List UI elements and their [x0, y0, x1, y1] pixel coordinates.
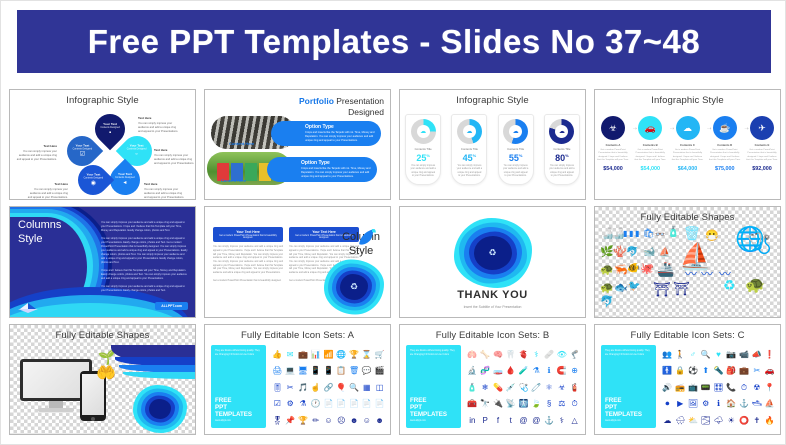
card-line3: TEMPLATES: [605, 411, 642, 418]
waves-icon: 〰: [701, 265, 713, 282]
icon-cell: 🩹: [544, 351, 554, 359]
column-1-foot: Get a modern PowerPoint Presentation tha…: [213, 280, 283, 284]
option-type-label-1: Option Type: [305, 124, 375, 130]
icon-set-card-c: They are Resize without losing quality. …: [601, 345, 656, 428]
icon-cell: 📡: [506, 400, 516, 408]
icon-cell: ☁: [663, 417, 671, 425]
icon-cell: 🧷: [531, 384, 541, 392]
donut-value-4: 80%: [547, 153, 577, 163]
icon-cell: 🏠: [726, 400, 736, 408]
icon-cell: 🌫: [701, 417, 711, 425]
icon-cell: 📄: [336, 400, 346, 408]
donut-value-1: 25%: [408, 153, 438, 163]
card-url: www.allppt.com: [410, 420, 457, 423]
card-line1: FREE: [215, 397, 232, 404]
mobile-icon: ▪: [109, 129, 111, 135]
donut-text-3: You can simply impress your audience and…: [501, 165, 531, 179]
icon-cell: 🌧: [675, 417, 685, 425]
icon-cell: ▦: [363, 384, 371, 392]
icon-cell: ⊕: [571, 367, 578, 375]
petal-diagram: Your Text Contents Designed ▪ Your Text …: [10, 112, 195, 195]
portfolio-pill-1: Option Type Crops and insects like the T…: [271, 121, 381, 146]
icon-cell: 🌐: [336, 351, 346, 359]
ship-icon: 🚢: [657, 261, 674, 278]
circle-item-2: 🚗 Contents B Get a modern PowerPoint Pre…: [634, 116, 666, 172]
icon-cell: 📋: [336, 367, 346, 375]
circle-text-5: Get a modern PowerPoint Presentation tha…: [746, 149, 778, 163]
icon-cell: 🧲: [557, 367, 567, 375]
icon-cell: 🖥: [298, 367, 308, 375]
circle-price-row: ☣ Contents A Get a modern PowerPoint Pre…: [597, 116, 778, 172]
portfolio-highlight: Portfolio: [299, 96, 334, 106]
slide-11-title: Fully Editable Icon Sets: B: [400, 330, 585, 341]
circle-caption-4: Contents D: [709, 143, 741, 147]
icon-cell: ♂: [690, 351, 696, 359]
icon-cell: 🫁: [467, 351, 477, 359]
icon-cell: f: [497, 417, 499, 425]
donut-caption-1: Contents Title: [408, 147, 438, 151]
content-here-label-1: Content Here: [229, 141, 254, 146]
page-title: Free PPT Templates - Slides No 37~48: [88, 23, 701, 61]
paragraph-2: You can simply impress your audience and…: [101, 237, 189, 265]
icon-cell: 🔌: [493, 400, 503, 408]
icon-cell: 🔦: [714, 367, 724, 375]
circle-text-2: Get a modern PowerPoint Presentation tha…: [634, 149, 666, 163]
fish-icon: 🐠: [627, 263, 639, 274]
icon-cell: ⛅: [688, 417, 698, 425]
circle-item-1: ☣ Contents A Get a modern PowerPoint Pre…: [597, 116, 629, 172]
circle-caption-1: Contents A: [597, 143, 629, 147]
icon-cell: 📄: [324, 400, 334, 408]
car-icon: 🚗: [638, 116, 662, 140]
stethoscope-icon: 🩺: [747, 231, 772, 256]
slide-9-title: Fully Editable Shapes: [10, 330, 195, 341]
icon-cell: ✂: [287, 384, 294, 392]
icon-cell: 🔬: [467, 367, 477, 375]
icon-cell: 📷: [726, 351, 736, 359]
donut-chart-1: ☁: [411, 119, 436, 144]
icon-cell: 📺: [688, 384, 698, 392]
text-column-1: Your Text Here Get a modern PowerPoint P…: [213, 227, 283, 283]
card-bottom-text: FREE PPT TEMPLATES www.allppt.com: [215, 398, 262, 423]
icon-cell: 💼: [298, 351, 308, 359]
icon-cell: 📊: [311, 351, 321, 359]
petal-note-2: Text Here You can simply impress your au…: [154, 148, 196, 166]
slide-thumbnail-8[interactable]: Fully Editable Shapes 🍶 🍶 ▮ ▮ ▮ 🛍 👓 🧴 🗑 …: [594, 206, 781, 317]
coral-icon: 🪸: [613, 245, 627, 258]
icon-cell: 🔒: [675, 367, 685, 375]
icon-cell: §: [547, 400, 551, 408]
icon-cell: ⏺: [665, 400, 669, 408]
icon-cell: 🫀: [519, 351, 529, 359]
icon-cell: ℹ: [548, 367, 551, 375]
icon-cell: 💉: [506, 384, 516, 392]
icon-cell: 🗑: [349, 367, 359, 375]
papercut-star-7: ♻: [454, 218, 532, 288]
icon-cell: ☢: [753, 384, 760, 392]
slide-2-title: Portfolio Presentation Designed: [299, 96, 384, 117]
cloud-icon: ☁: [411, 119, 436, 144]
icon-set-card-b: They are Resize without losing quality. …: [406, 345, 461, 428]
spray-bottle-icon: 🧴: [667, 227, 679, 238]
donut-value-3: 55%: [501, 153, 531, 163]
cart-icon: ▫: [136, 151, 138, 157]
card-top-text: They are Resize without losing quality. …: [605, 350, 652, 358]
cup-icon: ☕: [713, 116, 737, 140]
slide-thumbnail-7[interactable]: ♻ THANK YOU Insert the Subtitle of Your …: [399, 206, 586, 317]
slide-thumbnail-12[interactable]: Fully Editable Icon Sets: C They are Res…: [594, 324, 781, 435]
circle-item-3: ☁ Contents C Get a modern PowerPoint Pre…: [672, 116, 704, 172]
icon-cell: ⭕: [739, 417, 749, 425]
donut-card-4: ☁ Contents Title 80% You can simply impr…: [544, 114, 580, 185]
icon-cell: ⏱: [571, 400, 577, 408]
slide-8-title: Fully Editable Shapes: [595, 212, 780, 223]
circle-price-5: $92,000: [746, 166, 778, 172]
icon-cell: ❄: [482, 384, 489, 392]
donut-chart-4: ☁: [549, 119, 574, 144]
icon-cell: 🦴: [480, 351, 490, 359]
dolphin-icon: [356, 227, 378, 252]
cloud-icon: ☁: [549, 119, 574, 144]
content-here-label-2: Content Here: [221, 178, 246, 183]
card-top-text: They are Resize without losing quality. …: [410, 350, 457, 358]
icon-cell: 🏆: [349, 351, 359, 359]
icon-cell: ⚽: [688, 367, 698, 375]
portfolio-pill-2: Option Type Crops and insects like the T…: [267, 157, 377, 182]
biohazard-icon: ☣: [601, 116, 625, 140]
icon-cell: 📶: [324, 351, 334, 359]
icon-cell: ☺: [363, 417, 371, 425]
icon-cell: 📱: [311, 367, 321, 375]
icon-cell: t: [510, 417, 512, 425]
icon-grid-b: 🫁🦴🧠🦷🫀⚕🩹👁🦿 🔬🧬🧫🩸🧪⚗ℹ🧲⊕ 🧴❄💊💉🩺🧷⚛☣🧯 🧰🔭🔌📡🩻🍃§⚖⏱ …: [466, 347, 581, 429]
icon-cell: 🚶: [675, 351, 685, 359]
circle-caption-2: Contents B: [634, 143, 666, 147]
icon-cell: 🧠: [493, 351, 503, 359]
seaweed-icon: 🌿: [600, 245, 614, 258]
icon-cell: 🎬: [375, 367, 385, 375]
cloud-icon: ☁: [676, 116, 700, 140]
icon-cell: 💊: [493, 384, 503, 392]
card-bottom-text: FREE PPT TEMPLATES www.allppt.com: [605, 398, 652, 423]
icon-cell: 👁: [557, 351, 567, 359]
icon-cell: ▶: [677, 400, 683, 408]
petal-note-5: Text Here You can simply impress your au…: [15, 144, 57, 162]
bird-icon: 🐦: [628, 281, 640, 292]
icon-cell: 🎈: [336, 384, 346, 392]
donut-caption-4: Contents Title: [547, 147, 577, 151]
waves-icon: 〰: [685, 265, 697, 282]
donut-card-1: ☁ Contents Title 25% You can simply impr…: [405, 114, 441, 185]
papercut-blob-6: ♻: [324, 260, 384, 315]
slide-thumbnail-10[interactable]: Fully Editable Icon Sets: A They are Res…: [204, 324, 391, 435]
donut-card-3: ☁ Contents Title 55% You can simply impr…: [498, 114, 534, 185]
card-line3: TEMPLATES: [410, 411, 447, 418]
icon-cell: 🧯: [570, 384, 580, 392]
icon-cell: 📹: [739, 351, 749, 359]
icon-cell: P: [482, 417, 487, 425]
straw-icon: ▮: [629, 229, 633, 238]
page-root: Free PPT Templates - Slides No 37~48 Inf…: [0, 0, 786, 445]
card-line2: PPT: [410, 404, 422, 411]
icon-cell: ⚗: [533, 367, 540, 375]
option-type-text-1: Crops and insects like the Tarpetic will…: [305, 131, 375, 142]
card-line1: FREE: [410, 397, 427, 404]
whale-icon: 🐋: [643, 247, 655, 258]
circle-price-4: $75,000: [709, 166, 741, 172]
portfolio-row-2: Option Type Crops and insects like the T…: [207, 152, 387, 185]
icon-cell: 🎵: [298, 384, 308, 392]
icon-cell: ⚗: [299, 400, 306, 408]
icon-cell: 🌩: [713, 417, 723, 425]
papercut-blob-9: [133, 385, 187, 433]
icon-cell: ☝: [311, 384, 321, 392]
recycle-bin-icon: ♻: [723, 277, 736, 294]
icon-cell: ☹: [337, 417, 345, 425]
card-bottom-text: FREE PPT TEMPLATES www.allppt.com: [410, 398, 457, 423]
slide-thumbnail-4[interactable]: Infographic Style ☣ Contents A Get a mod…: [594, 89, 781, 200]
turtle-icon: 🐢: [745, 275, 765, 295]
circle-text-1: Get a modern PowerPoint Presentation tha…: [597, 149, 629, 163]
icon-cell: ✝: [753, 417, 760, 425]
icon-cell: 🩸: [506, 367, 516, 375]
slide-thumbnail-5[interactable]: Columns Style You can simply impress you…: [9, 206, 196, 317]
header-banner: Free PPT Templates - Slides No 37~48: [17, 10, 771, 73]
icon-cell: ☻: [375, 417, 383, 425]
straw-icon: ▮: [635, 229, 639, 238]
icon-cell: 👥: [662, 351, 672, 359]
column-1-header: Your Text Here Get a modern PowerPoint P…: [213, 227, 283, 242]
fence-icon: ⛩: [653, 281, 671, 298]
boat-icon: ⛵: [659, 247, 670, 258]
cloud-icon: ☁: [457, 119, 482, 144]
dolphin-icon: 🐬: [600, 295, 614, 308]
donut-card-row: ☁ Contents Title 25% You can simply impr…: [400, 114, 585, 185]
circle-item-4: ☕ Contents D Get a modern PowerPoint Pre…: [709, 116, 741, 172]
paragraph-3: I hope and I believe that this Template …: [101, 269, 189, 281]
petal-note-1: Text Here You can simply impress your au…: [138, 116, 180, 134]
icon-cell: @: [532, 417, 540, 425]
slide-thumbnail-6[interactable]: Your Text Here Get a modern PowerPoint P…: [204, 206, 391, 317]
icon-cell: ⚖: [558, 400, 565, 408]
icon-cell: 🖼: [688, 400, 698, 408]
circle-price-2: $54,000: [634, 166, 666, 172]
portfolio-row-1: Option Type Crops and insects like the T…: [211, 116, 391, 149]
recycle-icon: ♻: [350, 282, 358, 293]
petal-note-3: Text Here You can simply impress your au…: [144, 182, 186, 200]
thank-you-title: THANK YOU: [400, 289, 585, 301]
card-url: www.allppt.com: [215, 420, 262, 423]
bag-icon: 🛍: [643, 228, 654, 239]
icon-cell: ⚓: [544, 417, 554, 425]
icon-cell: 🔥: [765, 417, 775, 425]
icon-cell: ✂: [753, 367, 760, 375]
icon-cell: 🔍: [349, 384, 359, 392]
icon-cell: 🔊: [662, 384, 672, 392]
icon-cell: ⚙: [702, 400, 709, 408]
icon-cell: 💬: [362, 367, 372, 375]
icon-cell: 📱: [324, 367, 334, 375]
card-line2: PPT: [215, 404, 227, 411]
icon-cell: ☻: [350, 417, 358, 425]
slide-12-title: Fully Editable Icon Sets: C: [595, 330, 780, 341]
icon-cell: 🩻: [519, 400, 529, 408]
icon-cell: ℹ: [717, 400, 720, 408]
airplane-icon: ✈: [750, 116, 774, 140]
petal-note-4: Text Here You can simply impress your au…: [26, 182, 68, 200]
icon-cell: 📄: [362, 400, 372, 408]
turtle-icon: 🐢: [600, 281, 614, 294]
icon-cell: 🧬: [480, 367, 490, 375]
seahorse-icon: 🦐: [614, 263, 628, 276]
icon-cell: 🧴: [467, 384, 477, 392]
icon-cell: ☺: [324, 417, 332, 425]
icon-cell: ⚕: [534, 351, 538, 359]
slide-thumbnail-11[interactable]: Fully Editable Icon Sets: B They are Res…: [399, 324, 586, 435]
icon-cell: 👍: [272, 351, 282, 359]
card-line2: PPT: [605, 404, 617, 411]
icon-cell: ✉: [287, 351, 294, 359]
icon-cell: 🧫: [493, 367, 503, 375]
icon-cell: ⌛: [362, 351, 372, 359]
circle-text-4: Get a modern PowerPoint Presentation tha…: [709, 149, 741, 163]
paragraph-4: You can simply impress your audience and…: [101, 285, 189, 293]
icon-cell: 🎒: [726, 367, 736, 375]
donut-text-1: You can simply impress your audience and…: [408, 165, 438, 179]
icon-cell: 📄: [375, 400, 385, 408]
slide-5-body: You can simply impress your audience and…: [101, 221, 189, 297]
donut-text-4: You can simply impress your audience and…: [547, 165, 577, 179]
slide-thumbnail-grid: Infographic Style Your Text Contents Des…: [9, 89, 781, 435]
columns-line2: Style: [18, 233, 61, 247]
icon-cell: 📄: [349, 400, 359, 408]
icon-cell: 🎚: [272, 384, 282, 392]
icon-cell: ⚙: [287, 400, 294, 408]
icon-cell: ⬆: [702, 367, 709, 375]
icon-cell: ✏: [312, 417, 319, 425]
trash-bin-icon: 🗑: [683, 225, 701, 242]
icon-cell: 🖨: [272, 367, 282, 375]
slide-10-title: Fully Editable Icon Sets: A: [205, 330, 390, 341]
icon-cell: 🧪: [519, 367, 529, 375]
recycle-icon: ♻: [488, 248, 496, 259]
icon-cell: ⚕: [560, 417, 564, 425]
icon-cell: ☀: [728, 417, 735, 425]
clock-icon: ◉: [90, 180, 95, 186]
circle-item-5: ✈ Contents E Get a modern PowerPoint Pre…: [746, 116, 778, 172]
icon-cell: 💼: [739, 367, 749, 375]
icon-set-card-a: They are Resize without losing quality. …: [211, 345, 266, 428]
slide-thumbnail-1[interactable]: Infographic Style Your Text Contents Des…: [9, 89, 196, 200]
donut-caption-3: Contents Title: [501, 147, 531, 151]
card-top-text: They are Resize without losing quality. …: [215, 350, 262, 358]
slide-thumbnail-3[interactable]: Infographic Style ☁ Contents Title 25% Y…: [399, 89, 586, 200]
fish-icon: 🐟: [614, 281, 628, 294]
slide-1-title: Infographic Style: [10, 95, 195, 106]
icon-cell: ♥: [716, 351, 721, 359]
icon-cell: 🚹: [662, 367, 672, 375]
icon-cell: 💻: [285, 367, 295, 375]
fence-icon: ⛩: [673, 281, 690, 297]
icon-cell: ❗: [765, 351, 775, 359]
card-line1: FREE: [605, 397, 622, 404]
slide-thumbnail-9[interactable]: Fully Editable Shapes 🌱 🤲: [9, 324, 196, 435]
icon-cell: 📟: [701, 384, 711, 392]
speaker-icon: ◂: [123, 180, 126, 186]
circle-caption-5: Contents E: [746, 143, 778, 147]
icon-cell: 📻: [675, 384, 685, 392]
icon-cell: 🔍: [701, 351, 711, 359]
turtle-icon: 🐢: [600, 263, 614, 276]
icon-cell: ☑: [274, 400, 281, 408]
slide-4-title: Infographic Style: [595, 95, 780, 106]
icon-cell: 🎖: [272, 417, 282, 425]
donut-value-2: 45%: [454, 153, 484, 163]
icon-cell: 🛥: [752, 400, 762, 408]
column-1-body: You can simply impress your audience and…: [213, 246, 283, 275]
allppt-button[interactable]: ALLPPT.com: [155, 302, 188, 310]
icon-cell: 🔭: [480, 400, 490, 408]
icon-cell: 📞: [726, 384, 736, 392]
circle-price-3: $64,000: [672, 166, 704, 172]
icon-cell: 🧰: [467, 400, 477, 408]
icon-cell: in: [469, 417, 475, 425]
icon-cell: 📣: [752, 351, 762, 359]
icon-cell: 🦿: [570, 351, 580, 359]
icon-cell: 🔗: [324, 384, 334, 392]
paper-boat-icon: [17, 300, 39, 311]
icon-cell: 🩺: [519, 384, 529, 392]
icon-cell: 🍃: [531, 400, 541, 408]
slide-3-title: Infographic Style: [400, 95, 585, 106]
goggles-icon: 👓: [655, 230, 665, 239]
thank-you-subtitle: Insert the Subtitle of Your Presentation: [400, 305, 585, 309]
icon-grid-a: 👍✉💼📊📶🌐🏆⌛🛒 🖨💻🖥📱📱📋🗑💬🎬 🎚✂🎵☝🔗🎈🔍▦◫ ☑⚙⚗🕐📄📄📄📄📄 …: [271, 347, 386, 429]
icon-cell: ⚓: [739, 400, 749, 408]
icon-cell: △: [572, 417, 578, 425]
circle-price-1: $54,000: [597, 166, 629, 172]
icon-cell: 📌: [285, 417, 295, 425]
icon-cell: ⛵: [765, 400, 775, 408]
option-type-label-2: Option Type: [301, 160, 371, 166]
icon-cell: 🕐: [311, 400, 321, 408]
icon-cell: ☣: [558, 384, 565, 392]
circle-caption-3: Contents C: [672, 143, 704, 147]
cloud-icon: ☁: [503, 119, 528, 144]
straw-icon: ▮: [623, 229, 627, 238]
donut-chart-3: ☁: [503, 119, 528, 144]
icon-cell: 🎛: [713, 384, 723, 392]
icon-cell: 🚗: [765, 367, 775, 375]
icon-cell: 🛒: [375, 351, 385, 359]
icon-cell: 📍: [765, 384, 775, 392]
icon-cell: 🏆: [298, 417, 308, 425]
card-line3: TEMPLATES: [215, 411, 252, 418]
slide-5-title: Columns Style: [18, 219, 61, 247]
donut-text-2: You can simply impress your audience and…: [454, 165, 484, 179]
icon-cell: 🦷: [506, 351, 516, 359]
slide-thumbnail-2[interactable]: Portfolio Presentation Designed Option T…: [204, 89, 391, 200]
circle-text-3: Get a modern PowerPoint Presentation tha…: [672, 149, 704, 163]
icon-cell: @: [519, 417, 527, 425]
donut-chart-2: ☁: [457, 119, 482, 144]
check-icon: ☑: [79, 151, 84, 157]
icon-grid-c: 👥🚶♂🔍♥📷📹📣❗ 🚹🔒⚽⬆🔦🎒💼✂🚗 🔊📻📺📟🎛📞⏱☢📍 ⏺▶🖼⚙ℹ🏠⚓🛥⛵ …: [661, 347, 776, 429]
octopus-icon: 🐙: [640, 262, 654, 275]
icon-cell: ⚛: [545, 384, 552, 392]
donut-caption-2: Contents Title: [454, 147, 484, 151]
dolphin-icon: 🐬: [626, 247, 638, 258]
